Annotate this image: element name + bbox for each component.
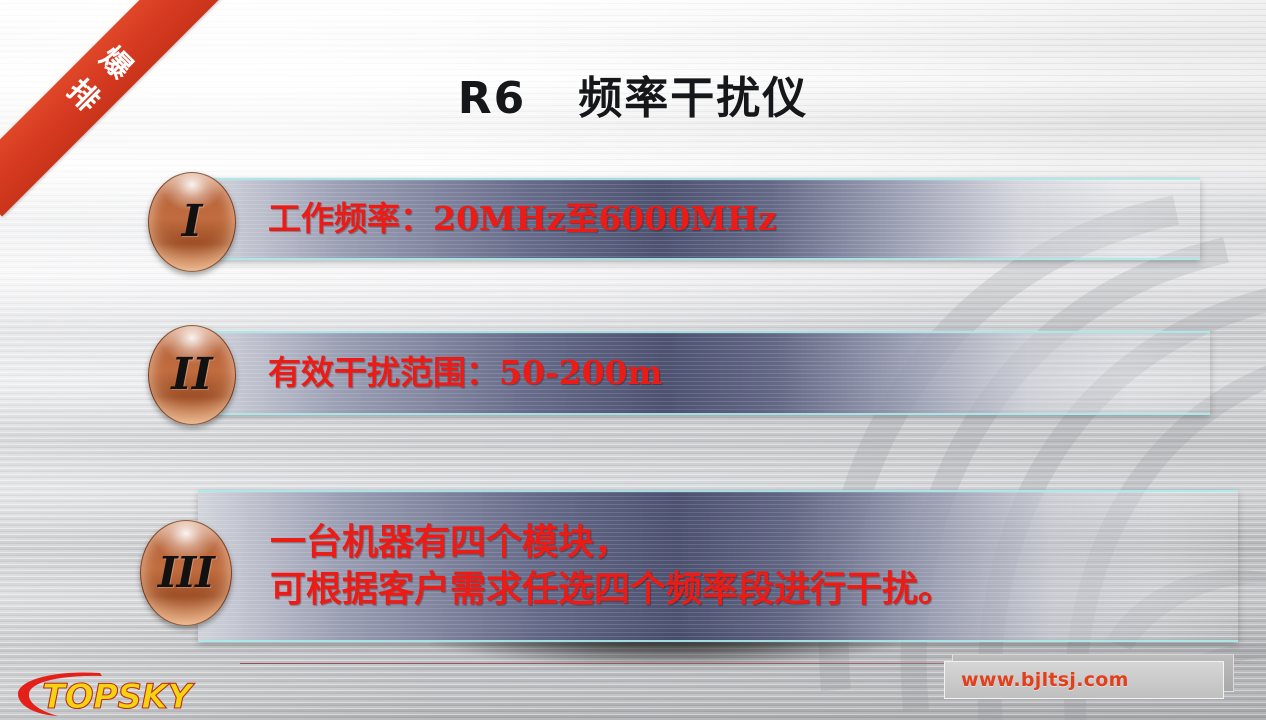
- title-gap: [526, 73, 578, 124]
- feature-text-3-line2: 可根据客户需求任选四个频率段进行干扰。: [270, 568, 954, 610]
- page-title: R6 频率干扰仪: [0, 62, 1266, 126]
- feature-bar-1: 工作频率：20MHz至6000MHz: [200, 178, 1200, 260]
- feature-row-2: 有效干扰范围：50-200m II: [148, 325, 1248, 425]
- numeral-badge-1: I: [148, 172, 236, 272]
- numeral-badge-1-label: I: [182, 200, 203, 244]
- feature-text-2: 有效干扰范围：50-200m: [268, 352, 662, 394]
- numeral-badge-3-label: III: [158, 552, 214, 594]
- presentation-slide: 排 爆 R6 频率干扰仪 工作频率：20MHz至6000MHz I 有效干扰范围…: [0, 0, 1266, 720]
- url-box-front-plate: www.bjltsj.com: [944, 661, 1224, 699]
- title-code: R6: [458, 73, 527, 124]
- numeral-badge-2-label: II: [171, 353, 212, 397]
- title-text: 频率干扰仪: [578, 73, 808, 124]
- feature-bar-3: 一台机器有四个模块，可根据客户需求任选四个频率段进行干扰。: [198, 490, 1238, 642]
- website-url-text: www.bjltsj.com: [961, 669, 1129, 691]
- numeral-badge-2: II: [148, 325, 236, 425]
- feature-row-1: 工作频率：20MHz至6000MHz I: [148, 172, 1248, 272]
- feature-text-3-line1: 一台机器有四个模块，: [270, 521, 630, 563]
- svg-text:TOPSKY: TOPSKY: [42, 677, 195, 717]
- feature-row-3: 一台机器有四个模块，可根据客户需求任选四个频率段进行干扰。 III: [140, 512, 1266, 640]
- numeral-badge-3: III: [140, 520, 232, 626]
- feature-text-3: 一台机器有四个模块，可根据客户需求任选四个频率段进行干扰。: [270, 519, 954, 613]
- topsky-logo: TOPSKY: [14, 668, 246, 718]
- feature-bar-2: 有效干扰范围：50-200m: [200, 331, 1210, 415]
- website-url-box[interactable]: www.bjltsj.com: [944, 654, 1234, 700]
- feature-text-1: 工作频率：20MHz至6000MHz: [268, 198, 777, 240]
